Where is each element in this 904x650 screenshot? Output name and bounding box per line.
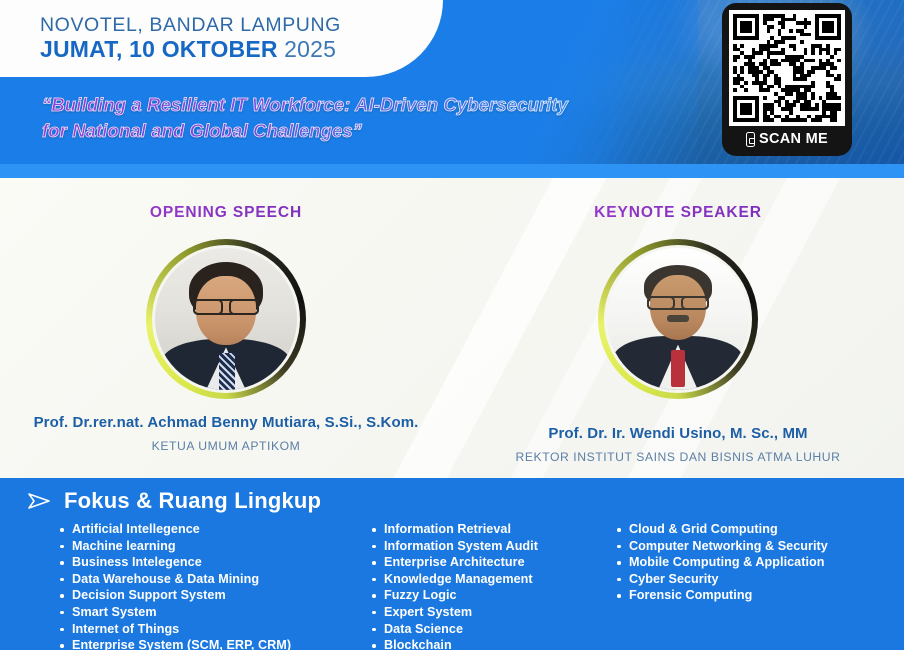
topic-item: Information Retrieval <box>370 521 615 538</box>
focus-title: Fokus & Ruang Lingkup <box>64 488 321 514</box>
topic-item: Business Intelegence <box>58 554 370 571</box>
avatar-tie <box>671 350 685 387</box>
topic-item: Mobile Computing & Application <box>615 554 875 571</box>
topic-item: Fuzzy Logic <box>370 587 615 604</box>
speaker-portrait-frame <box>598 239 758 399</box>
venue-text: NOVOTEL, BANDAR LAMPUNG <box>40 14 443 36</box>
speaker-organization: KETUA UMUM APTIKOM <box>0 439 452 453</box>
speaker-card-keynote: KEYNOTE SPEAKER <box>452 178 904 478</box>
topic-item: Decision Support System <box>58 587 370 604</box>
hero-banner: NOVOTEL, BANDAR LAMPUNG JUMAT, 10 OKTOBE… <box>0 0 904 178</box>
topic-item: Artificial Intellegence <box>58 521 370 538</box>
qr-code-image[interactable] <box>729 10 845 126</box>
theme-line-2: for National and Global Challenges” <box>42 118 682 144</box>
gold-ring-decor <box>146 239 306 399</box>
speaker-portrait-frame <box>146 239 306 399</box>
avatar <box>607 248 749 390</box>
focus-header: Fokus & Ruang Lingkup <box>0 488 904 514</box>
arrow-right-icon <box>26 491 52 511</box>
focus-column-1: Artificial IntellegenceMachine learningB… <box>58 521 370 650</box>
topic-item: Cyber Security <box>615 571 875 588</box>
ring-inner <box>152 245 300 393</box>
topic-item: Enterprise System (SCM, ERP, CRM) <box>58 637 370 650</box>
topic-item: Forensic Computing <box>615 587 875 604</box>
speaker-organization: REKTOR INSTITUT SAINS DAN BISNIS ATMA LU… <box>452 450 904 464</box>
topic-item: Expert System <box>370 604 615 621</box>
speaker-name: Prof. Dr.rer.nat. Achmad Benny Mutiara, … <box>0 413 452 433</box>
speaker-role-label: KEYNOTE SPEAKER <box>452 204 904 222</box>
speakers-section: OPENING SPEECH Prof. Dr. <box>0 178 904 478</box>
hero-bottom-strip <box>0 164 904 178</box>
topic-item: Computer Networking & Security <box>615 538 875 555</box>
topic-item: Enterprise Architecture <box>370 554 615 571</box>
gold-ring-decor <box>598 239 758 399</box>
topic-list: Information RetrievalInformation System … <box>370 521 615 650</box>
topic-item: Smart System <box>58 604 370 621</box>
date-venue-banner: NOVOTEL, BANDAR LAMPUNG JUMAT, 10 OKTOBE… <box>0 0 443 77</box>
topic-list: Artificial IntellegenceMachine learningB… <box>58 521 370 650</box>
topic-item: Knowledge Management <box>370 571 615 588</box>
phone-scan-icon <box>746 132 755 147</box>
topic-item: Data Science <box>370 621 615 638</box>
hero-diagonal-overlay <box>430 0 630 178</box>
avatar-tie <box>219 353 235 390</box>
qr-code-block[interactable]: SCAN ME <box>722 3 852 156</box>
topic-item: Internet of Things <box>58 621 370 638</box>
topic-item: Cloud & Grid Computing <box>615 521 875 538</box>
focus-columns: Artificial IntellegenceMachine learningB… <box>0 521 904 650</box>
focus-scope-section: Fokus & Ruang Lingkup Artificial Intelle… <box>0 478 904 650</box>
speaker-card-opening: OPENING SPEECH Prof. Dr. <box>0 178 452 478</box>
date-text: JUMAT, 10 OKTOBER 2025 <box>40 36 443 62</box>
conference-poster: NOVOTEL, BANDAR LAMPUNG JUMAT, 10 OKTOBE… <box>0 0 904 650</box>
avatar-moustache <box>667 315 690 322</box>
avatar <box>155 248 297 390</box>
ring-inner <box>604 245 752 393</box>
topic-item: Information System Audit <box>370 538 615 555</box>
scan-me-caption: SCAN ME <box>746 131 828 147</box>
speaker-name: Prof. Dr. Ir. Wendi Usino, M. Sc., MM <box>452 424 904 444</box>
speaker-role-label: OPENING SPEECH <box>0 204 452 222</box>
theme-line-1: “Building a Resilient IT Workforce: AI-D… <box>42 92 682 118</box>
glasses-icon <box>647 296 709 310</box>
topic-item: Blockchain <box>370 637 615 650</box>
focus-column-3: Cloud & Grid ComputingComputer Networkin… <box>615 521 875 650</box>
scan-me-label: SCAN ME <box>759 131 828 147</box>
topic-item: Data Warehouse & Data Mining <box>58 571 370 588</box>
conference-theme: “Building a Resilient IT Workforce: AI-D… <box>42 92 682 145</box>
qr-module-grid <box>733 14 841 122</box>
date-day-month: JUMAT, 10 OKTOBER <box>40 36 278 62</box>
date-year: 2025 <box>284 36 336 62</box>
focus-column-2: Information RetrievalInformation System … <box>370 521 615 650</box>
topic-list: Cloud & Grid ComputingComputer Networkin… <box>615 521 875 604</box>
topic-item: Machine learning <box>58 538 370 555</box>
glasses-icon <box>193 299 258 315</box>
